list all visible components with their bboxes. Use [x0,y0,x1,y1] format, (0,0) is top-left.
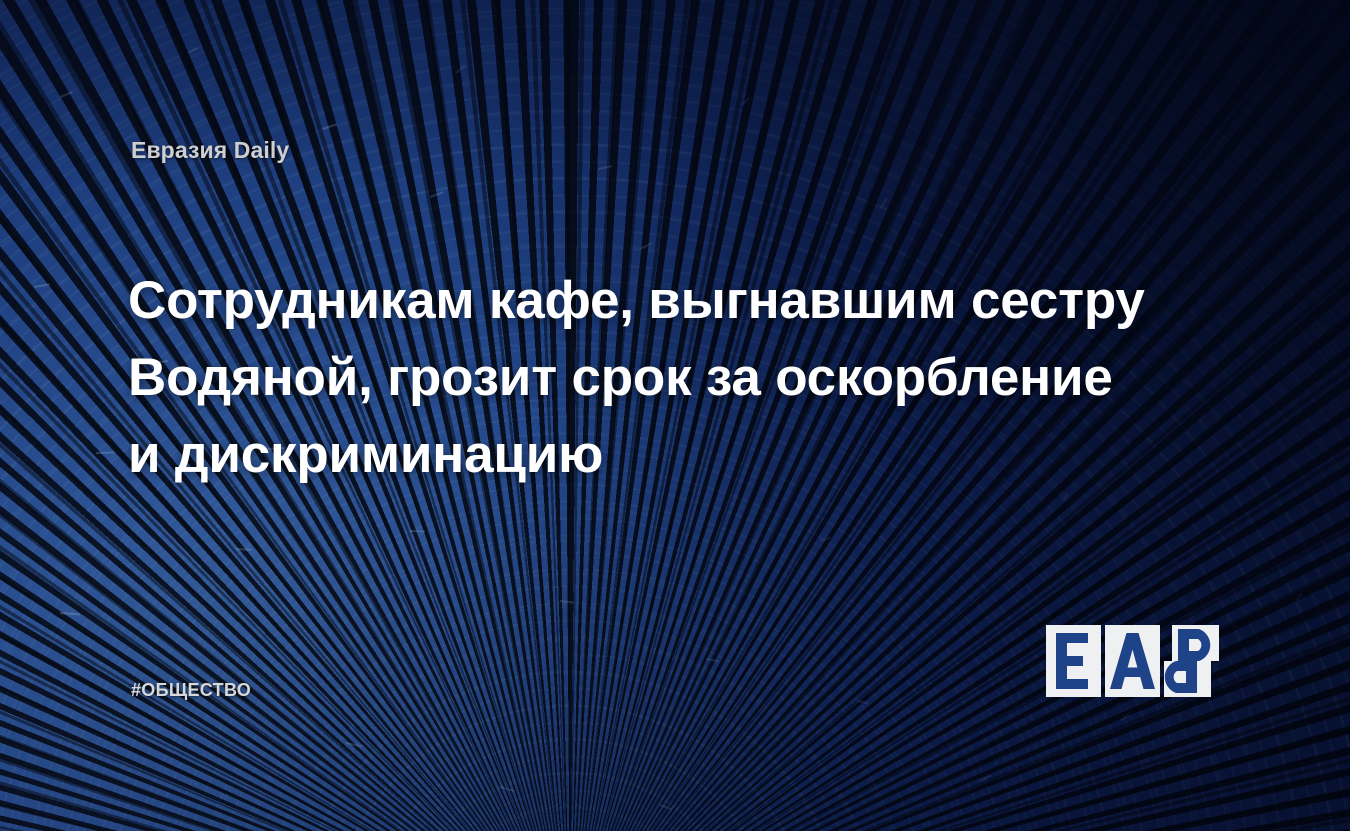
category-tag[interactable]: #ОБЩЕСТВО [131,680,251,701]
social-share-card: Евразия Daily Сотрудникам кафе, выгнавши… [0,0,1350,831]
card-content: Евразия Daily Сотрудникам кафе, выгнавши… [0,0,1350,831]
headline-line-3: и дискриминацию [128,416,1218,493]
logo-tile-e [1046,625,1101,697]
eadaily-logo [1046,625,1219,697]
headline-line-1: Сотрудникам кафе, выгнавшим сестру [128,262,1218,339]
headline-line-2: Водяной, грозит срок за оскорбление [128,339,1218,416]
brand-name: Евразия Daily [131,137,289,164]
logo-tile-a [1105,625,1160,697]
headline: Сотрудникам кафе, выгнавшим сестру Водян… [128,262,1218,493]
logo-tile-d-split [1164,625,1219,697]
